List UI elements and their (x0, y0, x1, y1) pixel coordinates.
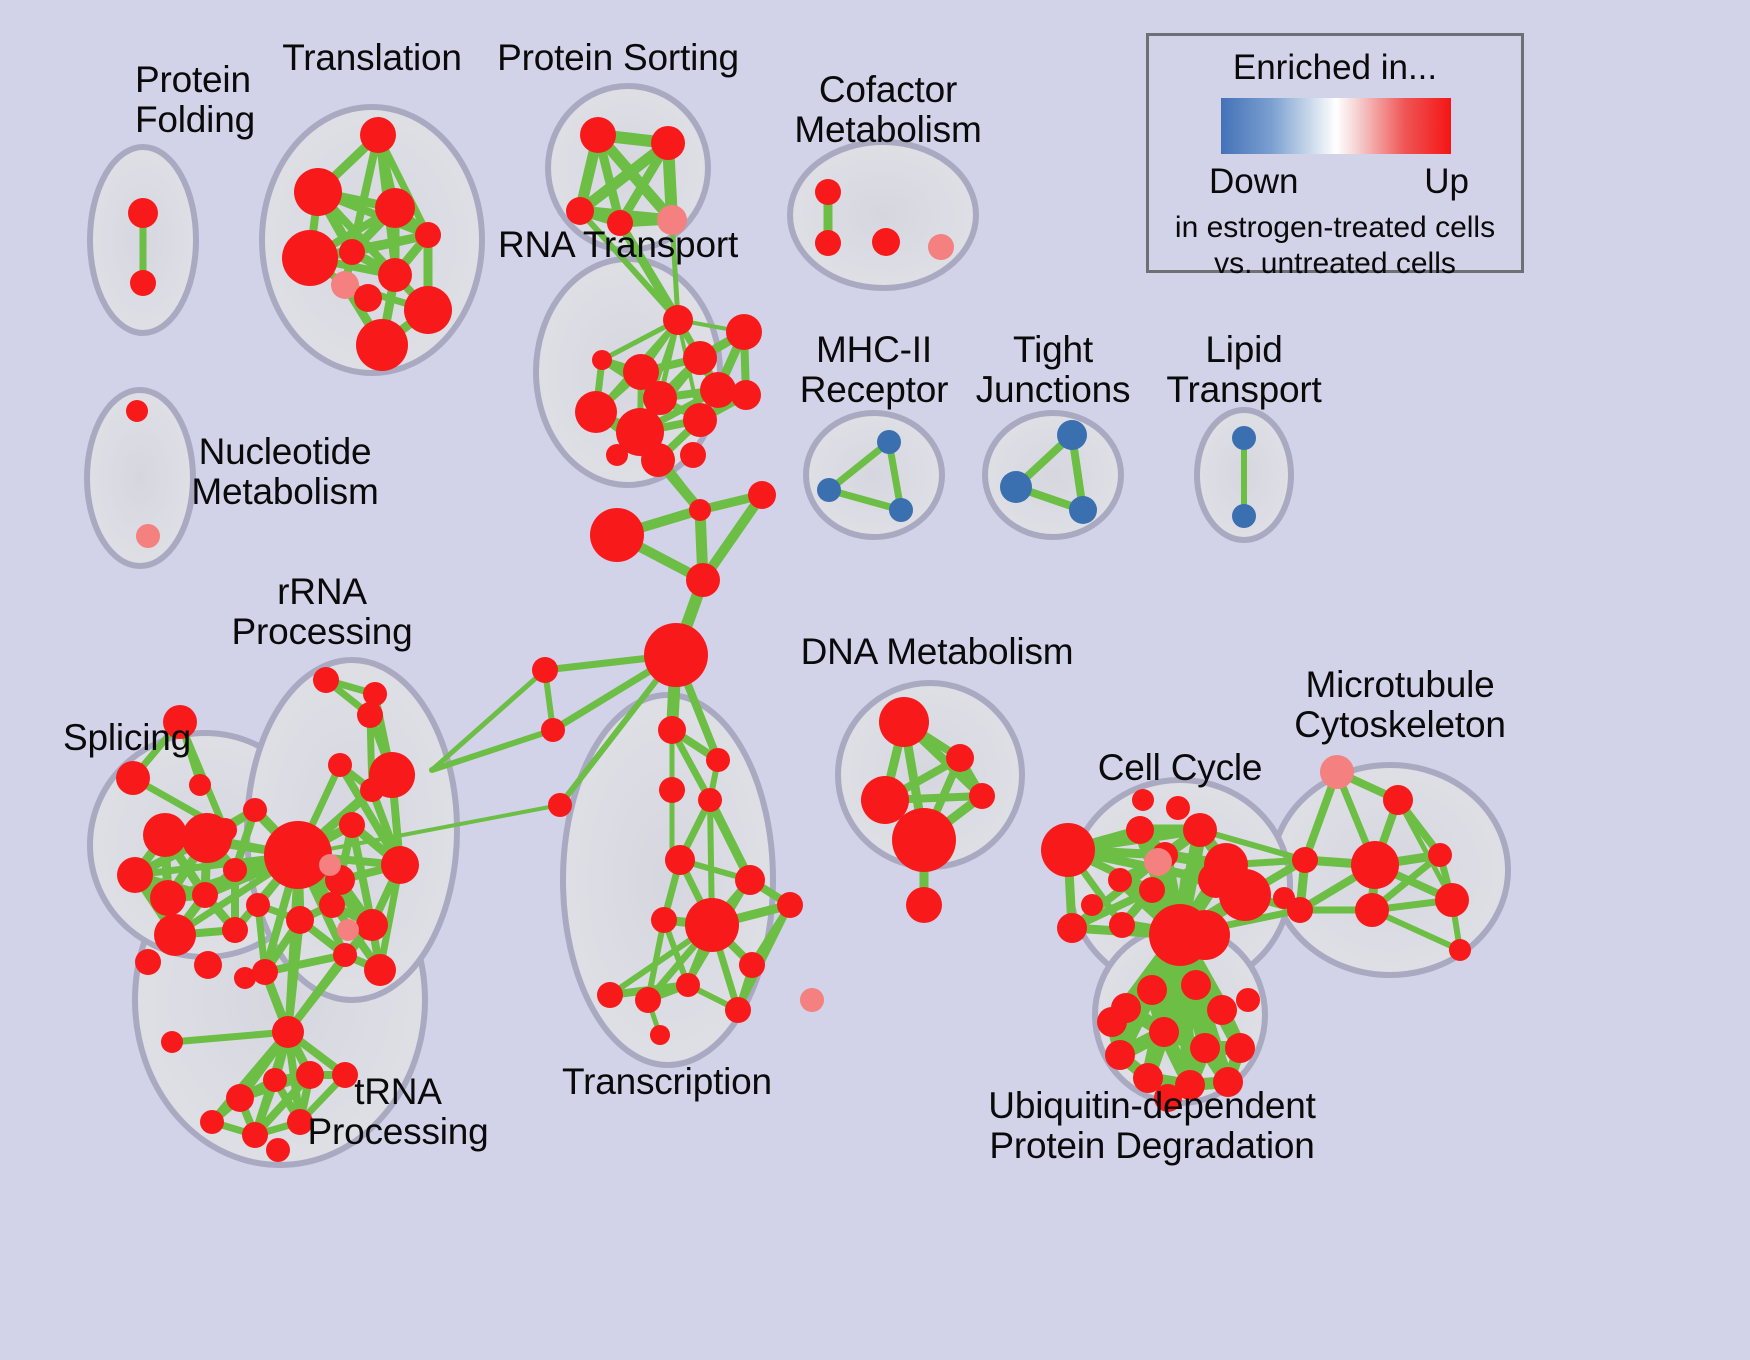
hull-tight-junctions (985, 413, 1121, 537)
cluster-label-splicing: Splicing (63, 718, 191, 758)
cluster-label-protein-folding: Protein Folding (135, 60, 255, 140)
cluster-label-rna-transport: RNA Transport (498, 225, 738, 265)
cluster-label-dna-metabolism: DNA Metabolism (801, 632, 1074, 672)
cluster-label-lipid-transport: Lipid Transport (1166, 330, 1321, 410)
cluster-label-protein-sorting: Protein Sorting (497, 38, 739, 78)
cluster-label-trna-processing: tRNA Processing (307, 1072, 488, 1152)
hull-cofactor-metabolism (790, 142, 976, 288)
legend-subtitle-line-2: vs. untreated cells (1149, 247, 1521, 281)
cluster-label-nucleotide-metabolism: Nucleotide Metabolism (191, 432, 378, 512)
cluster-label-rrna-processing: rRNA Processing (231, 572, 412, 652)
cluster-label-cell-cycle: Cell Cycle (1098, 748, 1263, 788)
hull-mhc-ii-receptor (806, 413, 942, 537)
cluster-label-mhc-ii-receptor: MHC-II Receptor (800, 330, 949, 410)
cluster-label-translation: Translation (282, 38, 461, 78)
cluster-label-ubiquitin-degradation: Ubiquitin-dependent Protein Degradation (988, 1086, 1315, 1166)
legend-down-label: Down (1209, 162, 1298, 202)
cluster-label-tight-junctions: Tight Junctions (976, 330, 1131, 410)
cluster-label-microtubule-cytoskeleton: Microtubule Cytoskeleton (1294, 665, 1506, 745)
enrichment-map-figure: .cl{fill:url(#clusterGrad);stroke:#a9a9c… (0, 0, 1750, 1360)
legend-up-label: Up (1424, 162, 1469, 202)
cluster-label-transcription: Transcription (562, 1062, 772, 1102)
cluster-label-cofactor-metabolism: Cofactor Metabolism (794, 70, 981, 150)
legend-title: Enriched in... (1149, 48, 1521, 88)
legend-subtitle-line-1: in estrogen-treated cells (1149, 211, 1521, 245)
legend-color-gradient-bar (1221, 98, 1451, 154)
legend-box: Enriched in... Down Up in estrogen-treat… (1146, 33, 1524, 273)
